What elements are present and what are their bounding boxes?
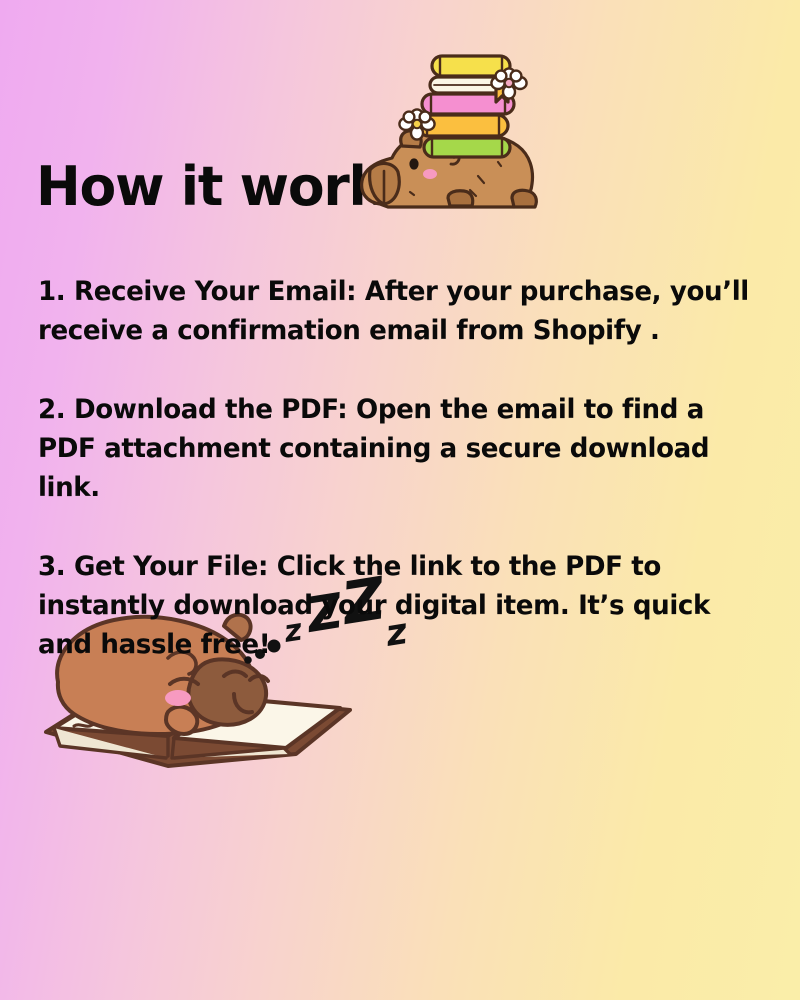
capybara-with-book-stack-illustration <box>352 52 552 234</box>
step-item-2: 2. Download the PDF: Open the email to f… <box>38 390 753 507</box>
step-item-3: 3. Get Your File: Click the link to the … <box>38 547 753 664</box>
steps-list: 1. Receive Your Email: After your purcha… <box>38 272 764 664</box>
book-green <box>424 138 510 157</box>
step-item-1: 1. Receive Your Email: After your purcha… <box>38 272 753 350</box>
poster-canvas: How it works <box>0 0 800 1000</box>
